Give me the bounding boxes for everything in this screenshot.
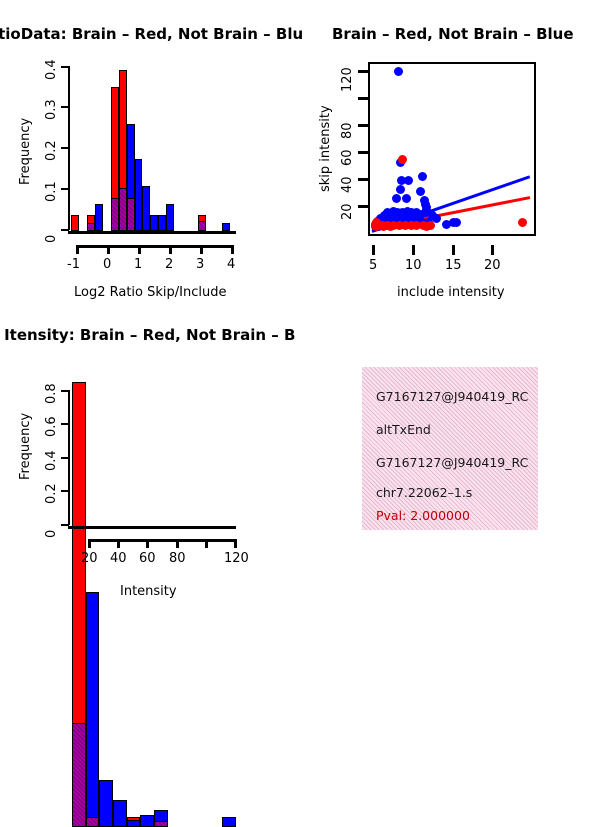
- x-tick-label-3-120: 120: [224, 551, 249, 566]
- x-axis-label-2: include intensity: [397, 285, 505, 300]
- scatter-point-not-brain: [416, 187, 425, 196]
- panel-title-scatter: Brain – Red, Not Brain – Blue: [332, 25, 574, 43]
- annotation-line-gene-id: G7167127@J940419_RC: [376, 455, 528, 470]
- scatter-point-not-brain: [394, 67, 403, 76]
- panel-annotation: G7167127@J940419_RC altTxEnd G7167127@J9…: [300, 300, 600, 600]
- hist-bar-overlap: [154, 821, 168, 827]
- hist-bar-not-brain: [222, 223, 230, 231]
- hist-bar-not-brain: [95, 204, 103, 231]
- x-tick-1-3: [169, 245, 172, 254]
- x-axis-label-3: Intensity: [120, 584, 177, 599]
- hist-bar-overlap: [111, 198, 119, 231]
- scatter-point-brain: [518, 218, 527, 227]
- x-tick-label-1-2: 1: [134, 257, 142, 272]
- scatter-point-not-brain: [452, 218, 461, 227]
- x-tick-label-1-0: -1: [67, 257, 80, 272]
- x-tick-label-3-80: 80: [169, 551, 186, 566]
- x-tick-3-120: [234, 539, 237, 548]
- x-tick-3-60: [146, 539, 149, 548]
- hist-bar-overlap: [87, 223, 95, 231]
- x-tick-1-0: [76, 245, 79, 254]
- y-tick-2-40: [358, 178, 368, 181]
- annotation-line-pval: Pval: 2.000000: [376, 508, 470, 523]
- y-tick-2-20: [358, 205, 368, 208]
- annotation-line-probeset-id: G7167127@J940419_RC: [376, 389, 528, 404]
- y-tick-2-80: [358, 124, 368, 127]
- x-tick-3-100: [205, 539, 208, 548]
- x-tick-2-20: [491, 245, 494, 255]
- x-tick-1-1: [107, 245, 110, 254]
- x-tick-3-80: [176, 539, 179, 548]
- x-tick-label-1-5: 4: [227, 257, 235, 272]
- y-tick-label-2-20: 20: [340, 203, 355, 220]
- x-tick-2-15: [452, 245, 455, 255]
- y-tick-2-60: [358, 151, 368, 154]
- x-tick-1-5: [231, 245, 234, 254]
- hist-bar-not-brain: [140, 815, 154, 827]
- scatter-point-not-brain: [404, 176, 413, 185]
- hist-bar-not-brain: [135, 159, 143, 231]
- y-tick-2-100: [358, 97, 368, 100]
- x-tick-2-5: [372, 245, 375, 255]
- x-tick-label-2-20: 20: [484, 258, 501, 273]
- scatter-point-not-brain: [392, 194, 401, 203]
- hist-bar-overlap: [72, 723, 86, 827]
- histogram-bars-log2ratio: [0, 0, 300, 300]
- x-tick-label-2-5: 5: [369, 258, 377, 273]
- hist-bar-brain: [71, 215, 79, 232]
- hist-bar-not-brain: [86, 592, 100, 827]
- figure-canvas: atioData: Brain – Red, Not Brain – Blu 0…: [0, 0, 600, 600]
- annotation-line-event-type: altTxEnd: [376, 422, 431, 437]
- x-tick-label-2-15: 15: [445, 258, 462, 273]
- annotation-line-locus: chr7.22062–1.s: [376, 485, 472, 500]
- annotation-info-box: G7167127@J940419_RC altTxEnd G7167127@J9…: [362, 367, 538, 530]
- x-tick-label-3-20: 20: [81, 551, 98, 566]
- hist-bar-not-brain: [113, 800, 127, 827]
- hist-bar-not-brain: [142, 186, 150, 231]
- y-tick-label-2-40: 40: [340, 176, 355, 193]
- x-axis-tickbase-1: [76, 245, 234, 248]
- y-tick-label-2-80: 80: [340, 122, 355, 139]
- hist-bar-not-brain: [150, 215, 158, 232]
- x-tick-2-10: [412, 245, 415, 255]
- scatter-point-not-brain: [402, 194, 411, 203]
- x-axis-tickbase-3: [88, 539, 236, 542]
- hist-bar-not-brain: [158, 215, 166, 232]
- panel-intensity-histogram: ne Itensity: Brain – Red, Not Brain – B …: [0, 300, 300, 600]
- hist-bar-overlap: [198, 221, 206, 231]
- scatter-plot-area: [368, 62, 536, 236]
- x-axis-line-1: [68, 231, 236, 234]
- scatter-point-not-brain: [418, 172, 427, 181]
- scatter-point-brain: [398, 155, 407, 164]
- y-tick-2-120: [358, 70, 368, 73]
- scatter-point-brain: [426, 221, 435, 230]
- x-tick-3-20: [88, 539, 91, 548]
- x-tick-label-3-40: 40: [110, 551, 127, 566]
- hist-bar-not-brain: [222, 817, 236, 827]
- x-axis-label-1: Log2 Ratio Skip/Include: [74, 285, 226, 300]
- hist-bar-overlap: [119, 188, 127, 231]
- x-tick-label-1-1: 0: [103, 257, 111, 272]
- panel-intensity-scatter: Brain – Red, Not Brain – Blue 120 80 60 …: [300, 0, 600, 300]
- x-tick-3-40: [117, 539, 120, 548]
- x-tick-label-1-4: 3: [196, 257, 204, 272]
- hist-bar-not-brain: [99, 780, 113, 827]
- x-axis-line-3: [68, 526, 236, 529]
- x-tick-1-2: [138, 245, 141, 254]
- x-tick-1-4: [200, 245, 203, 254]
- scatter-point-brain: [386, 222, 395, 231]
- y-tick-label-2-60: 60: [340, 149, 355, 166]
- hist-bar-not-brain: [127, 820, 141, 827]
- y-axis-label-2: skip intensity: [318, 105, 333, 192]
- x-tick-label-1-3: 2: [165, 257, 173, 272]
- panel-log2ratio-histogram: atioData: Brain – Red, Not Brain – Blu 0…: [0, 0, 300, 300]
- x-tick-label-3-60: 60: [139, 551, 156, 566]
- x-tick-label-2-10: 10: [405, 258, 422, 273]
- hist-bar-overlap: [127, 198, 135, 231]
- hist-bar-not-brain: [166, 204, 174, 231]
- hist-bar-overlap: [86, 817, 100, 827]
- y-tick-label-2-120: 120: [340, 67, 355, 92]
- scatter-point-not-brain: [396, 185, 405, 194]
